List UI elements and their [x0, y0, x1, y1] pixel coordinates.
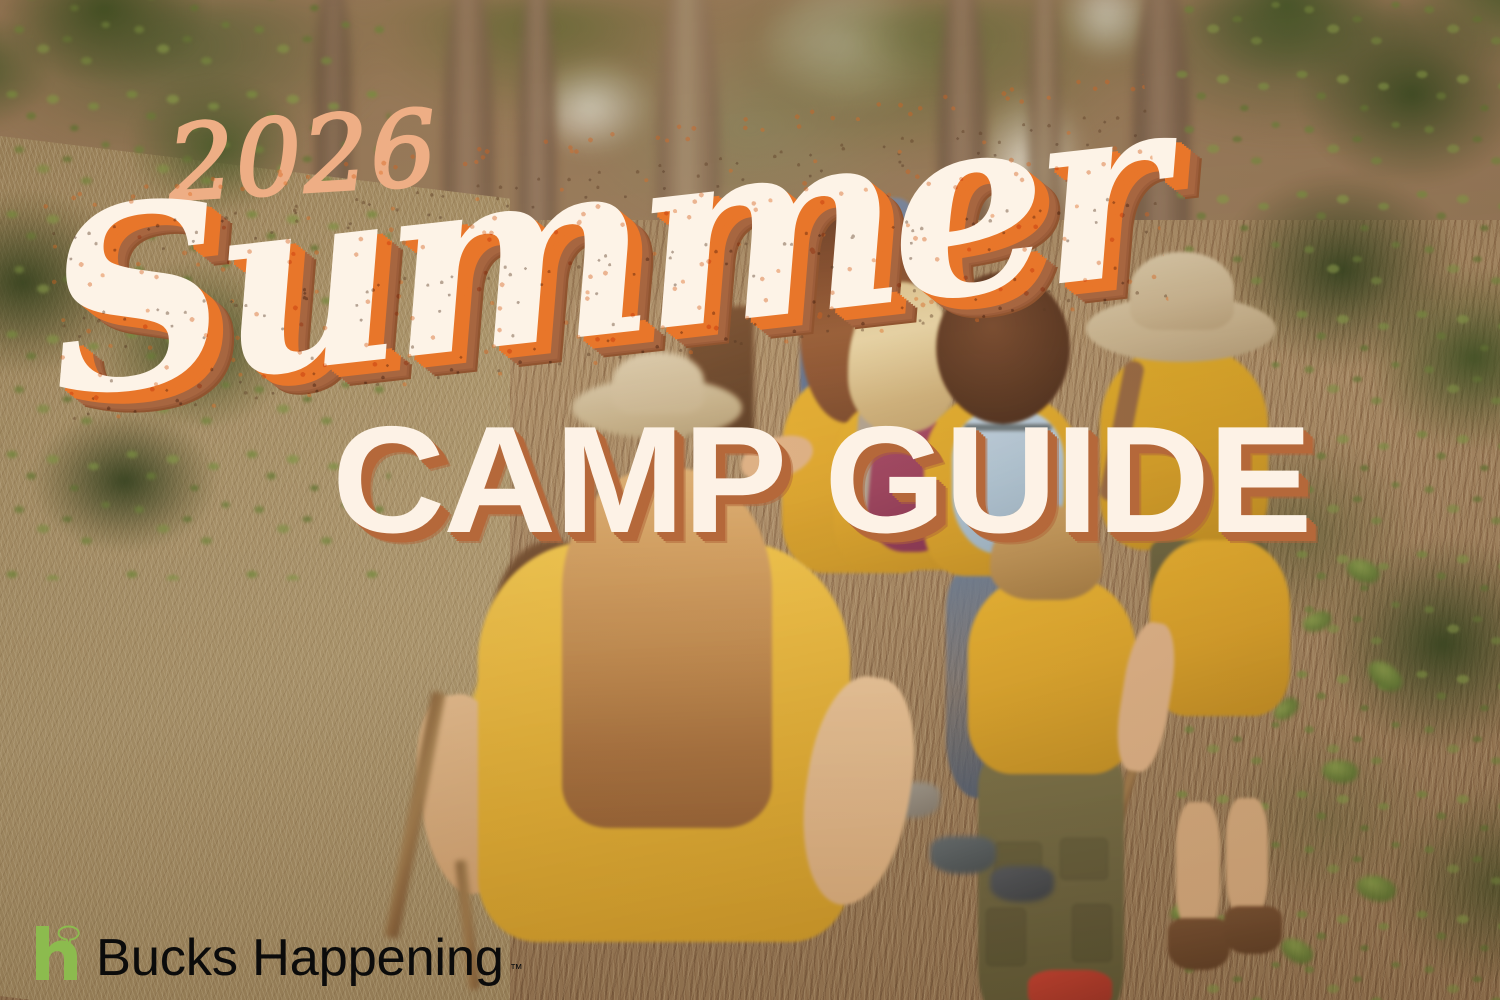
- bucks-happening-logo[interactable]: Bucks Happening ™: [32, 922, 523, 984]
- trademark-symbol: ™: [510, 961, 523, 976]
- summer-camp-guide-poster: 2026 Summer CAMP GUIDE Bucks Happening ™: [0, 0, 1500, 1000]
- camp-guide-text: CAMP GUIDE: [332, 404, 1311, 556]
- headline-lockup: 2026 Summer CAMP GUIDE: [0, 0, 1500, 1000]
- h-leaf-icon: [32, 922, 92, 984]
- logo-wordmark: Bucks Happening: [96, 932, 504, 984]
